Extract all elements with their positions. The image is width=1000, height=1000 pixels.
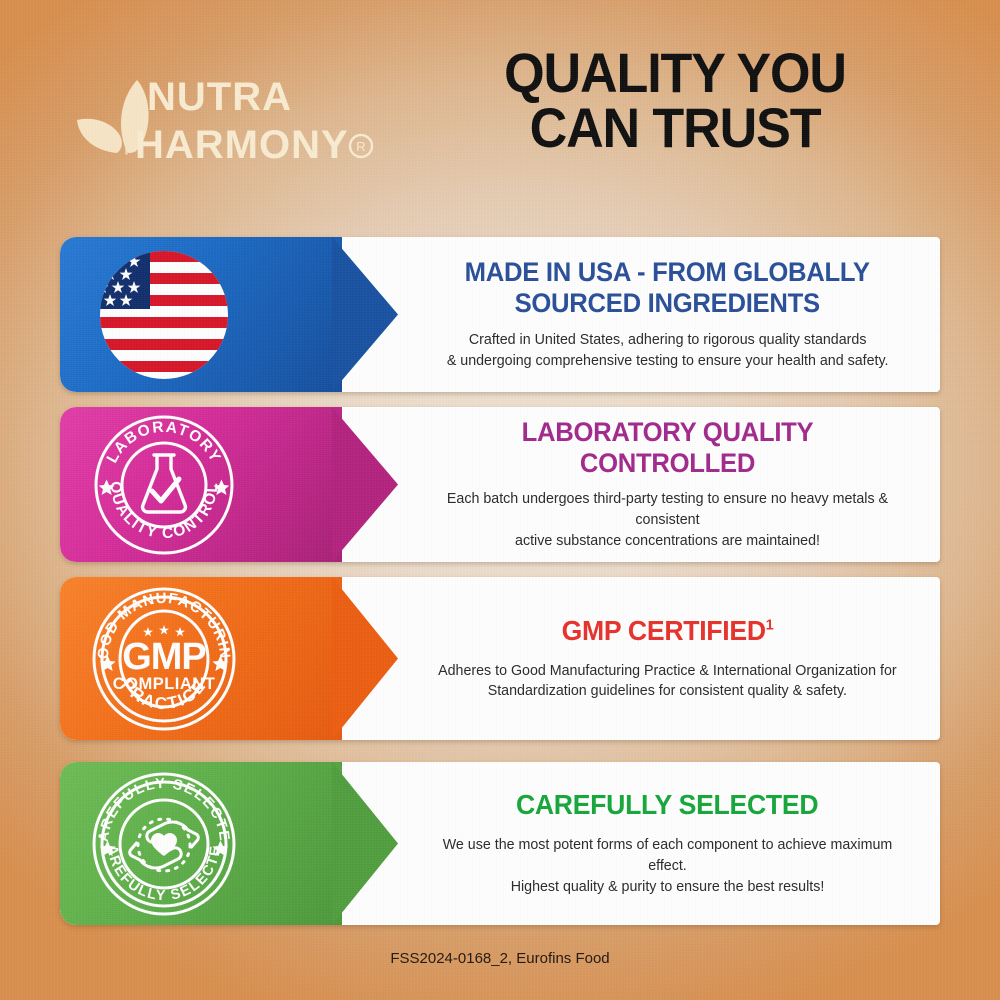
panel-title: MADE IN USA - FROM GLOBALLY SOURCED INGR… (465, 257, 870, 319)
brand-name-line1: NUTRA (55, 173, 56, 174)
panel-arrow-tip (332, 762, 402, 925)
panel-body: We use the most potent forms of each com… (430, 835, 904, 898)
panel-body-line-1: Each batch undergoes third-party testing… (430, 489, 904, 531)
panel-title: GMP CERTIFIED1 (562, 615, 774, 647)
feature-panel-made-in-usa: MADE IN USA - FROM GLOBALLY SOURCED INGR… (60, 237, 940, 392)
panel-body-line-1: Crafted in United States, adhering to ri… (447, 330, 889, 351)
panel-body-line-1: We use the most potent forms of each com… (430, 835, 904, 877)
svg-text:CAREFULLY SELECTED: CAREFULLY SELECTED (88, 768, 232, 843)
panel-title-line-2: SOURCED INGREDIENTS (515, 288, 820, 318)
panel-copy: CAREFULLY SELECTED We use the most poten… (405, 762, 930, 925)
panel-title-line-1: MADE IN USA - FROM GLOBALLY (465, 257, 870, 287)
brand-name-line2: HARMONY (55, 173, 56, 174)
panel-title-line-1: GMP CERTIFIED (562, 615, 766, 646)
panel-arrow-tip (332, 407, 402, 562)
feature-panel-carefully-selected: CAREFULLY SELECTED CAREFULLY SELECTED (60, 762, 940, 925)
gmp-compliant-seal-icon: GOOD MANUFACTURING PRACTICE GMP COMPLIAN… (88, 583, 240, 735)
us-flag-circle-icon (88, 239, 240, 391)
header: NUTRA HARMONY R NUTRA HARMONY ® QUALITY … (0, 0, 1000, 215)
panel-body-line-2: Highest quality & purity to ensure the b… (430, 877, 904, 898)
panel-body-line-1: Adheres to Good Manufacturing Practice &… (438, 661, 897, 682)
svg-text:COMPLIANT: COMPLIANT (113, 675, 216, 693)
panel-title: LABORATORY QUALITY CONTROLLED (435, 417, 900, 479)
panel-arrow-tip (332, 577, 402, 740)
svg-text:R: R (356, 139, 365, 154)
headline-line-2: CAN TRUST (415, 101, 936, 156)
panel-body: Adheres to Good Manufacturing Practice &… (438, 661, 897, 703)
panel-body: Crafted in United States, adhering to ri… (447, 330, 889, 372)
panel-title-footnote-marker: 1 (766, 616, 774, 633)
page-title: QUALITY YOU CAN TRUST (415, 46, 936, 156)
panel-body-line-2: active substance concentrations are main… (430, 531, 904, 552)
feature-panel-laboratory-quality-controlled: LABORATORY QUALITY CONTROL LABORATORY QU… (60, 407, 940, 562)
headline-line-1: QUALITY YOU (504, 41, 846, 104)
infographic-canvas: NUTRA HARMONY R NUTRA HARMONY ® QUALITY … (0, 0, 1000, 1000)
panel-copy: LABORATORY QUALITY CONTROLLED Each batch… (405, 407, 930, 562)
svg-text:GMP: GMP (122, 636, 206, 678)
svg-text:HARMONY: HARMONY (135, 123, 349, 167)
panel-body: Each batch undergoes third-party testing… (430, 489, 904, 552)
laboratory-quality-control-seal-icon: LABORATORY QUALITY CONTROL (88, 409, 240, 561)
panel-copy: MADE IN USA - FROM GLOBALLY SOURCED INGR… (405, 237, 930, 392)
brand-registered-mark: ® (55, 173, 56, 174)
panel-body-line-2: & undergoing comprehensive testing to en… (447, 351, 889, 372)
svg-text:NUTRA: NUTRA (147, 75, 292, 119)
brand-logo: NUTRA HARMONY R NUTRA HARMONY ® (55, 58, 375, 173)
panel-body-line-2: Standardization guidelines for consisten… (438, 681, 897, 702)
carefully-selected-seal-icon: CAREFULLY SELECTED CAREFULLY SELECTED (88, 768, 240, 920)
panel-title: CAREFULLY SELECTED (516, 789, 818, 821)
footnote: FSS2024-0168_2, Eurofins Food (0, 950, 1000, 967)
feature-panel-gmp-certified: GOOD MANUFACTURING PRACTICE GMP COMPLIAN… (60, 577, 940, 740)
panel-title-line-1: LABORATORY QUALITY CONTROLLED (522, 417, 814, 478)
panel-title-line-1: CAREFULLY SELECTED (516, 789, 818, 820)
panel-arrow-tip (332, 237, 402, 392)
panel-copy: GMP CERTIFIED1 Adheres to Good Manufactu… (405, 577, 930, 740)
